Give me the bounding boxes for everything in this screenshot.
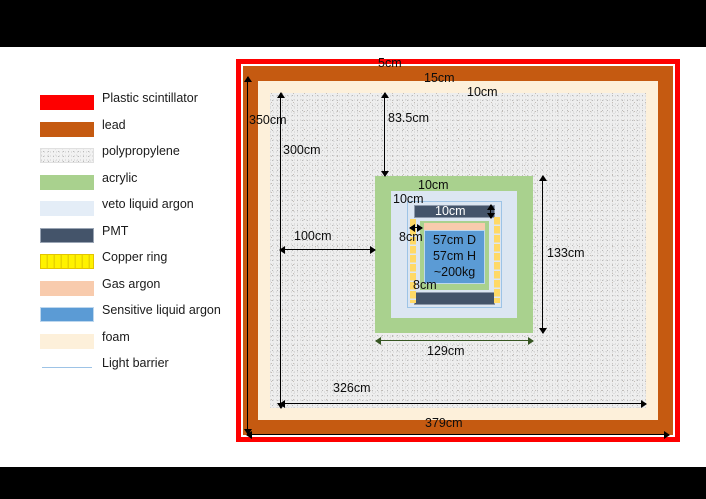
legend-swatch-veto-liquid-argon — [40, 201, 94, 216]
legend-swatch-sensitive-liquid-argon — [40, 307, 94, 322]
detector-cross-section: 57cm D 57cm H ~200kg 5cm 15cm 10cm 350cm… — [236, 59, 680, 442]
dim-acrylic-height: 133cm — [547, 246, 585, 260]
arrow-top-clearance — [384, 93, 385, 176]
legend-swatch-plastic-scintillator — [40, 95, 94, 110]
legend-swatch-pmt — [40, 228, 94, 243]
dim-scintillator-thickness: 5cm — [378, 56, 402, 70]
dim-copper-gap-top: 8cm — [399, 230, 423, 244]
pmt-bottom — [414, 292, 495, 305]
legend-label: lead — [102, 118, 126, 132]
legend-item-veto-liquid-argon: veto liquid argon — [40, 196, 240, 223]
dim-outer-width: 379cm — [425, 416, 463, 430]
dim-top-clearance: 83.5cm — [388, 111, 429, 125]
arrow-outer-height — [247, 77, 248, 434]
arrow-poly-width — [280, 403, 646, 404]
legend-label: acrylic — [102, 171, 137, 185]
arrow-outer-width — [247, 434, 669, 435]
dim-copper-gap-bottom: 8cm — [413, 278, 437, 292]
legend-swatch-foam — [40, 334, 94, 349]
core-diameter-label: 57cm D — [424, 233, 485, 248]
legend-swatch-acrylic — [40, 175, 94, 190]
legend-label: PMT — [102, 224, 128, 238]
legend-label: Gas argon — [102, 277, 160, 291]
legend-swatch-copper-ring — [40, 254, 94, 269]
arrow-acrylic-height — [542, 176, 543, 333]
dim-left-clearance: 100cm — [294, 229, 332, 243]
legend-item-light-barrier: Light barrier — [40, 355, 240, 382]
legend-label: foam — [102, 330, 130, 344]
legend-item-polypropylene: polypropylene — [40, 143, 240, 170]
figure-canvas: Plastic scintillator lead polypropylene … — [0, 0, 706, 499]
arrow-left-clearance — [280, 249, 375, 250]
arrow-acrylic-width — [376, 340, 533, 341]
legend-item-plastic-scintillator: Plastic scintillator — [40, 90, 240, 117]
dim-poly-width: 326cm — [333, 381, 371, 395]
legend-item-copper-ring: Copper ring — [40, 249, 240, 276]
legend-label: polypropylene — [102, 144, 180, 158]
legend-item-gas-argon: Gas argon — [40, 276, 240, 303]
legend-item-pmt: PMT — [40, 223, 240, 250]
legend-item-acrylic: acrylic — [40, 170, 240, 197]
dim-acrylic-width: 129cm — [427, 344, 465, 358]
layer-gas-argon — [424, 223, 485, 230]
dim-pmt-gap: 10cm — [435, 204, 466, 218]
arrow-pmt-gap — [490, 205, 491, 218]
copper-ring-right — [494, 217, 500, 303]
dim-acrylic-top: 10cm — [418, 178, 449, 192]
legend-label: Copper ring — [102, 250, 167, 264]
legend-label: Light barrier — [102, 356, 169, 370]
dim-poly-height: 300cm — [283, 143, 321, 157]
arrow-copper-gap-top — [410, 227, 422, 228]
dim-lead-thickness: 15cm — [424, 71, 455, 85]
core-height-label: 57cm H — [424, 249, 485, 264]
legend-label: Sensitive liquid argon — [102, 303, 221, 317]
legend-item-sensitive-liquid-argon: Sensitive liquid argon — [40, 302, 240, 329]
legend-item-lead: lead — [40, 117, 240, 144]
legend-label: Plastic scintillator — [102, 91, 198, 105]
legend-label: veto liquid argon — [102, 197, 194, 211]
legend-swatch-lead — [40, 122, 94, 137]
legend-swatch-polypropylene — [40, 148, 94, 163]
dim-veto-top: 10cm — [393, 192, 424, 206]
legend-item-foam: foam — [40, 329, 240, 356]
legend: Plastic scintillator lead polypropylene … — [40, 90, 240, 382]
dim-foam-thickness: 10cm — [467, 85, 498, 99]
legend-swatch-light-barrier — [42, 367, 92, 368]
legend-swatch-gas-argon — [40, 281, 94, 296]
